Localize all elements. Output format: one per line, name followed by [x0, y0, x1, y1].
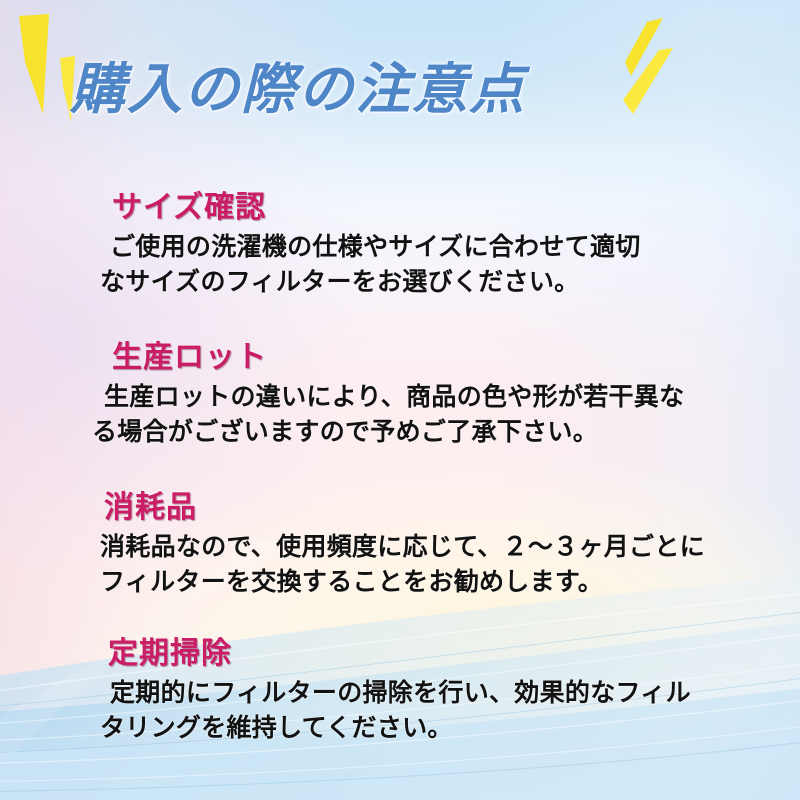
section-body-line: 生産ロットの違いにより、商品の色や形が若干異な [104, 380, 800, 415]
section-body-line: なサイズのフィルターをお選びください。 [100, 265, 800, 300]
section-body-line: ご使用の洗濯機の仕様やサイズに合わせて適切 [110, 230, 800, 265]
section-heading: 定期掃除 [108, 628, 800, 672]
section-body: 生産ロットの違いにより、商品の色や形が若干異な る場合がございますので予めご了承… [0, 380, 800, 449]
notice-section-production-lot: 生産ロット 生産ロットの違いにより、商品の色や形が若干異な る場合がございますの… [0, 332, 800, 449]
section-body: 消耗品なので、使用頻度に応じて、２〜３ヶ月ごとに フィルターを交換することをお勧… [0, 530, 800, 599]
page-title: 購入の際の注意点 [70, 44, 526, 124]
section-body: ご使用の洗濯機の仕様やサイズに合わせて適切 なサイズのフィルターをお選びください… [0, 230, 800, 299]
section-body-line: 定期的にフィルターの掃除を行い、効果的なフィル [110, 676, 800, 711]
lightning-bolt-right-icon [585, 0, 705, 150]
notice-section-regular-cleaning: 定期掃除 定期的にフィルターの掃除を行い、効果的なフィル タリングを維持してくだ… [0, 628, 800, 745]
section-heading: サイズ確認 [112, 182, 800, 226]
section-body-line: 消耗品なので、使用頻度に応じて、２〜３ヶ月ごとに [100, 530, 800, 565]
section-heading: 消耗品 [104, 482, 800, 526]
section-body-line: る場合がございますので予めご了承下さい。 [92, 415, 800, 450]
notice-section-consumable: 消耗品 消耗品なので、使用頻度に応じて、２〜３ヶ月ごとに フィルターを交換するこ… [0, 482, 800, 599]
product-notice-graphic: 購入の際の注意点 サイズ確認 ご使用の洗濯機の仕様やサイズに合わせて適切 なサイ… [0, 0, 800, 800]
section-body-line: フィルターを交換することをお勧めします。 [100, 565, 800, 600]
section-body-line: タリングを維持してください。 [100, 711, 800, 746]
header: 購入の際の注意点 [0, 0, 800, 150]
notice-section-list: サイズ確認 ご使用の洗濯機の仕様やサイズに合わせて適切 なサイズのフィルターをお… [0, 150, 800, 800]
section-heading: 生産ロット [112, 332, 800, 376]
section-body: 定期的にフィルターの掃除を行い、効果的なフィル タリングを維持してください。 [0, 676, 800, 745]
notice-section-size-check: サイズ確認 ご使用の洗濯機の仕様やサイズに合わせて適切 なサイズのフィルターをお… [0, 182, 800, 299]
